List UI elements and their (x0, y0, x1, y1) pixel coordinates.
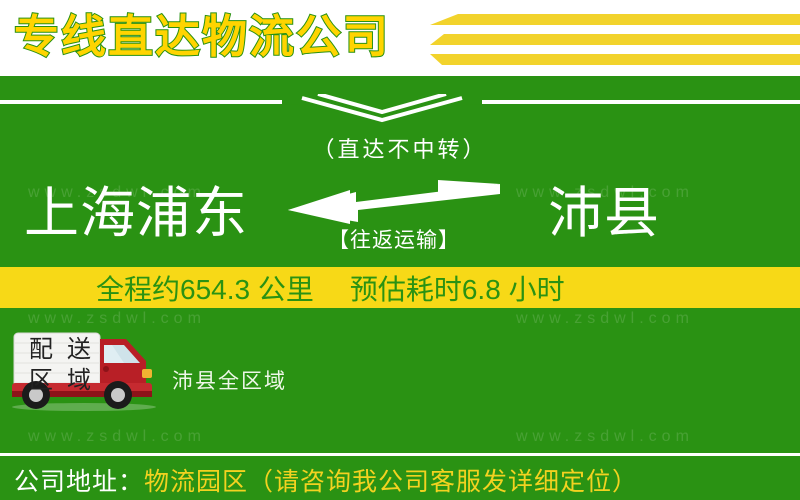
divider-bottom (0, 453, 800, 456)
company-address: 公司地址：物流园区（请咨询我公司客服发详细定位） (14, 462, 794, 498)
chevron-stripe-3 (430, 54, 800, 65)
header-strip: 专线直达物流公司 (0, 0, 800, 76)
origin-city: 上海浦东 (24, 168, 248, 248)
truck-box-char-0: 配 (29, 338, 53, 362)
address-value: 物流园区（请咨询我公司客服发详细定位） (144, 468, 638, 496)
roundtrip-label: 【往返运输】 (288, 224, 500, 254)
watermark: www.zsdwl.com (28, 310, 206, 328)
watermark: www.zsdwl.com (516, 310, 694, 328)
truck-box-label: 配 送 区 域 (22, 334, 98, 396)
watermark: www.zsdwl.com (516, 428, 694, 446)
page-title: 专线直达物流公司 (14, 8, 390, 66)
duration-text: 预估耗时6.8 小时 (350, 268, 565, 308)
chevron-down-icon (282, 94, 482, 128)
chevron-stripe-1 (430, 14, 800, 25)
address-label: 公司地址： (14, 468, 144, 496)
truck-box-char-2: 区 (29, 369, 53, 393)
chevron-stripe-2 (430, 34, 800, 45)
double-arrow-icon (288, 180, 500, 230)
main-green-panel: （直达不中转） 上海浦东 沛县 【往返运输】 全程约654.3 公里 预估耗时6… (0, 76, 800, 500)
logistics-banner: 专线直达物流公司 （直达不中转） 上海浦东 沛县 (0, 0, 800, 500)
chevron-stripes-decoration (415, 12, 800, 68)
truck-box-char-1: 送 (67, 338, 91, 362)
destination-city: 沛县 (548, 168, 660, 248)
route-tagline: （直达不中转） (0, 132, 800, 164)
stats-bar: 全程约654.3 公里 预估耗时6.8 小时 (0, 267, 800, 308)
truck-box-char-3: 域 (67, 369, 91, 393)
watermark: www.zsdwl.com (28, 428, 206, 446)
distance-text: 全程约654.3 公里 (96, 268, 314, 308)
coverage-area-text: 沛县全区域 (172, 365, 287, 395)
